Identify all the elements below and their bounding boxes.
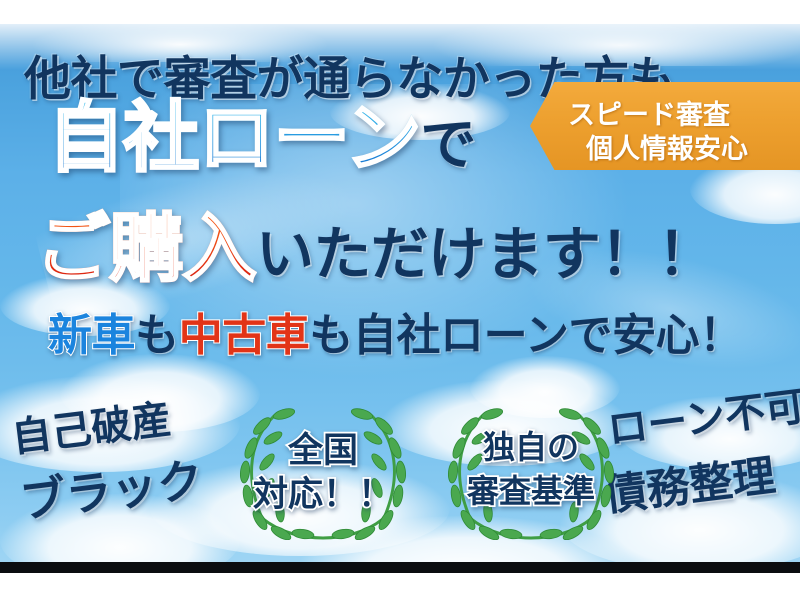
headline-line-3: ご購入いただけます！！ bbox=[36, 212, 715, 286]
laurel-badge-own-criteria: 独自の 審査基準 bbox=[436, 400, 626, 540]
advertisement-banner: 他社で審査が通らなかった方も 自社ローンで ご購入いただけます！！ 新車も中古車… bbox=[0, 0, 800, 600]
laurel-text-line-1: 独自の bbox=[436, 422, 626, 468]
headline-line-2: 自社ローンで bbox=[48, 100, 476, 176]
letterbox-bottom bbox=[0, 573, 800, 600]
laurel-text-line-2: 審査基準 bbox=[436, 466, 626, 512]
badge-line-2: 個人情報安心 bbox=[586, 127, 748, 166]
headline-line-4: 新車も中古車も自社ローンで安心！ bbox=[48, 314, 743, 358]
headline-line-2-tail: で bbox=[420, 113, 475, 178]
headline-purchase: ご購入 bbox=[36, 206, 256, 292]
headline-new-car: 新車 bbox=[48, 310, 135, 361]
speed-review-badge: スピード審査 個人情報安心 bbox=[530, 82, 800, 170]
laurel-badge-nationwide: 全国 対応！！ bbox=[228, 400, 418, 540]
letterbox-top bbox=[0, 0, 800, 24]
headline-used-car: 中古車 bbox=[179, 310, 310, 361]
black-divider-bar bbox=[0, 562, 800, 573]
laurel-text-line-2: 対応！！ bbox=[228, 466, 418, 517]
headline-jisha-loan: 自社ローン bbox=[48, 93, 420, 182]
headline-line-3-tail: いただけます！！ bbox=[256, 220, 715, 288]
headline-line-4-conj-1: も bbox=[135, 310, 179, 361]
headline-line-4-tail: も自社ローンで安心！ bbox=[309, 310, 742, 361]
